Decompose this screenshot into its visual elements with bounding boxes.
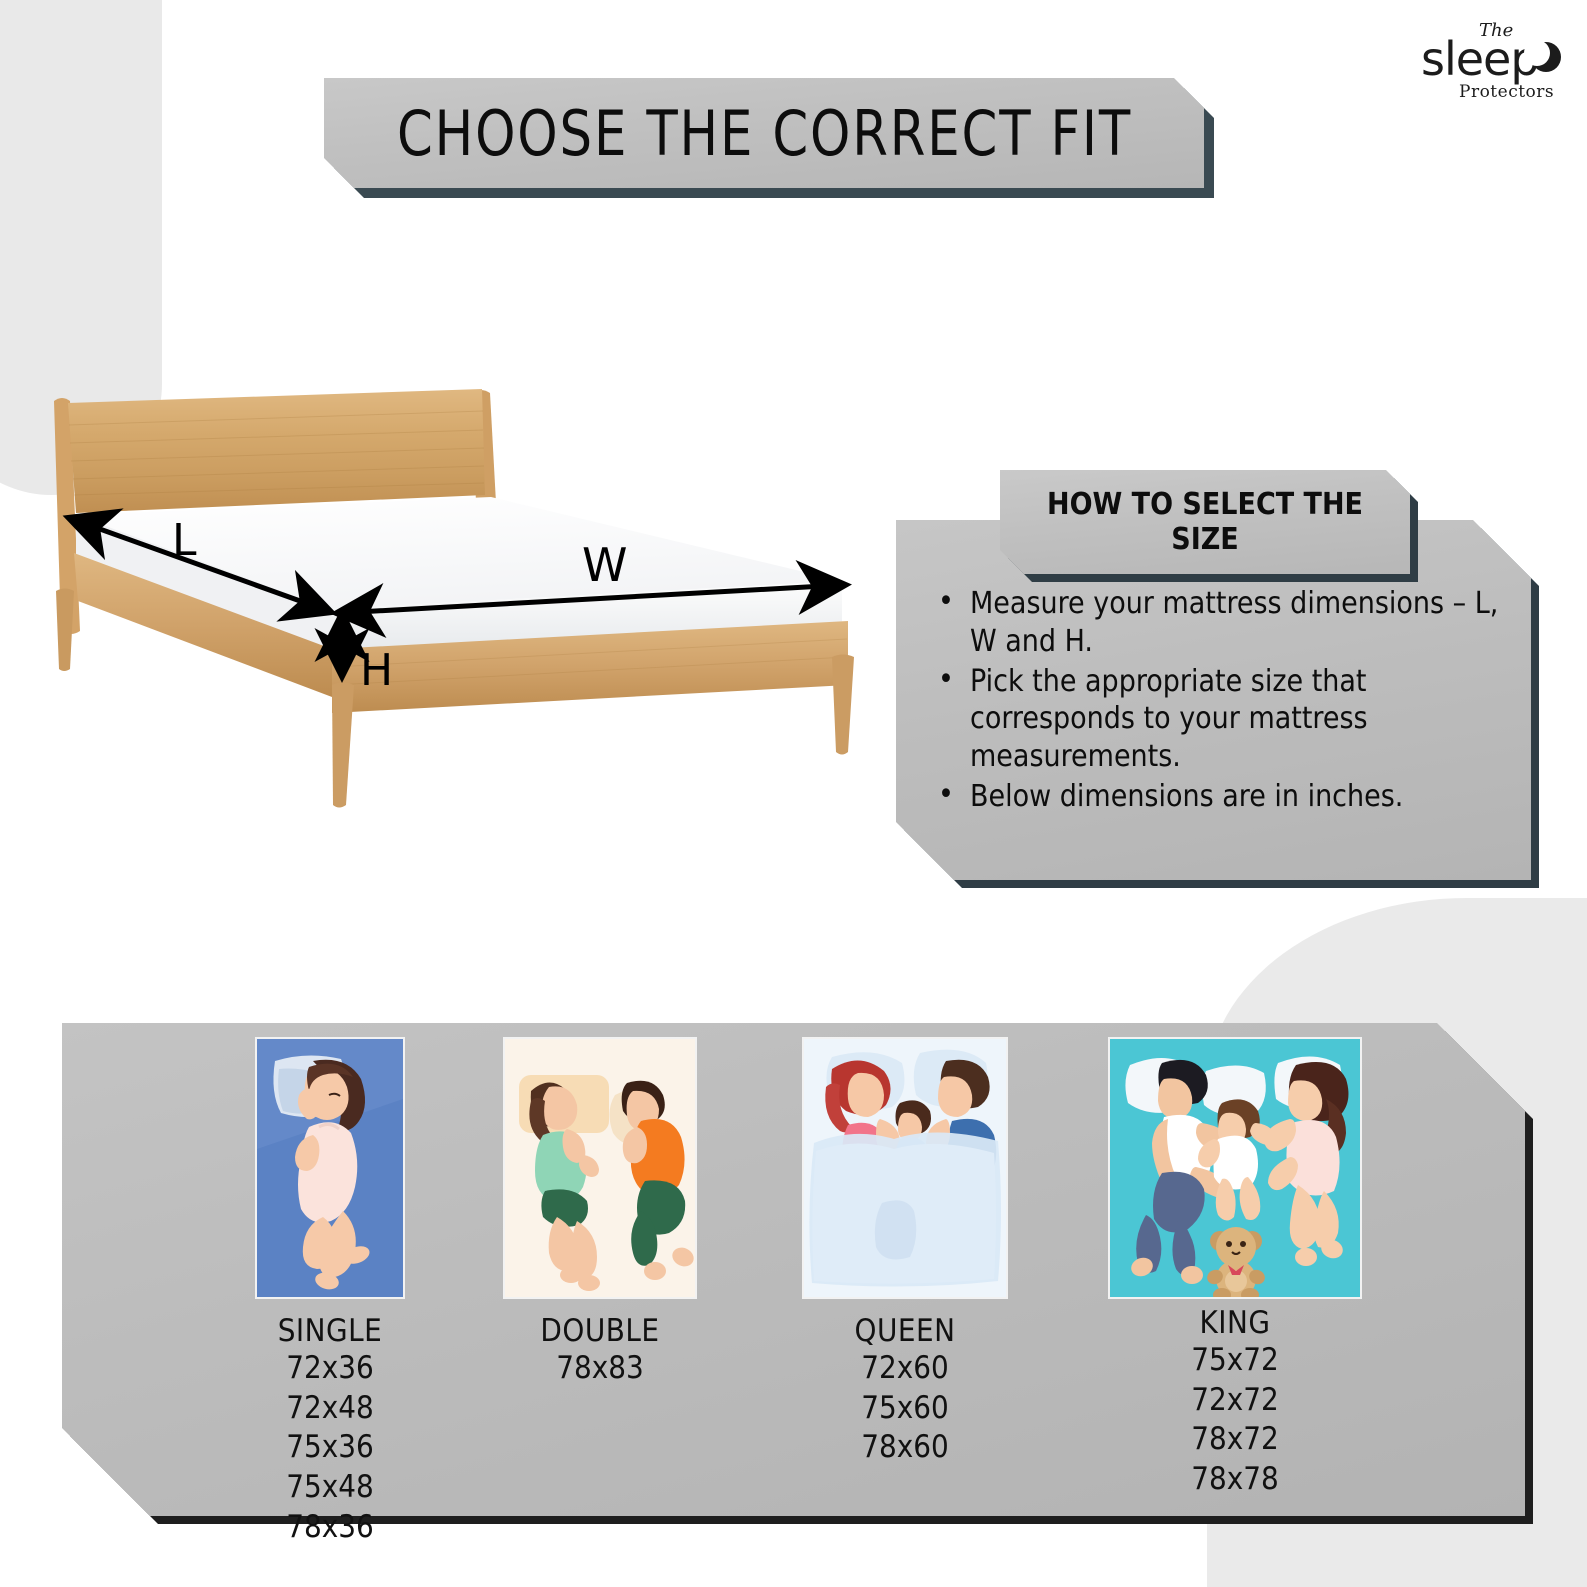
moon-icon	[1531, 42, 1561, 72]
size-dimensions-queen: 72x60 75x60 78x60	[745, 1349, 1065, 1468]
dimension-value: 72x72	[1055, 1381, 1415, 1421]
dimension-value: 72x48	[180, 1389, 480, 1429]
dimension-value: 75x72	[1055, 1341, 1415, 1381]
dimension-value: 75x60	[745, 1389, 1065, 1429]
infographic-page: CHOOSE THE CORRECT FIT The sleep Protect…	[0, 0, 1587, 1587]
title-banner-plate: CHOOSE THE CORRECT FIT	[324, 78, 1204, 188]
bed-diagram: L W H	[42, 385, 902, 815]
dimension-value: 78x83	[440, 1349, 760, 1389]
size-dimensions-single: 72x36 72x48 75x36 75x48 78x36	[180, 1349, 480, 1547]
dimension-value: 75x48	[180, 1468, 480, 1508]
logo-sub-text: Protectors	[1459, 82, 1554, 102]
dimension-value: 78x60	[745, 1428, 1065, 1468]
dimension-value: 75x36	[180, 1428, 480, 1468]
size-label-queen: QUEEN	[745, 1313, 1065, 1349]
title-banner: CHOOSE THE CORRECT FIT	[324, 78, 1204, 188]
dimension-value: 72x36	[180, 1349, 480, 1389]
brand-logo: The sleep Protectors	[1387, 8, 1579, 118]
howto-bullet: Below dimensions are in inches.	[930, 778, 1510, 816]
howto-header-title: HOW TO SELECT THE SIZE	[1000, 487, 1410, 558]
size-option-queen[interactable]: QUEEN 72x60 75x60 78x60	[745, 1037, 1065, 1468]
dimension-value: 78x78	[1055, 1460, 1415, 1500]
dimension-value: 78x72	[1055, 1420, 1415, 1460]
queen-sleeper-image	[802, 1037, 1008, 1299]
single-sleeper-image	[255, 1037, 405, 1299]
size-dimensions-double: 78x83	[440, 1349, 760, 1389]
size-option-double[interactable]: DOUBLE 78x83	[440, 1037, 760, 1389]
howto-header-plate: HOW TO SELECT THE SIZE	[1000, 470, 1410, 574]
howto-bullet: Pick the appropriate size that correspon…	[930, 663, 1510, 776]
size-label-double: DOUBLE	[440, 1313, 760, 1349]
length-label: L	[172, 515, 197, 566]
width-label: W	[582, 538, 627, 592]
size-option-king[interactable]: KING 75x72 72x72 78x72 78x78	[1055, 1037, 1415, 1500]
howto-bullet-list: Measure your mattress dimensions – L, W …	[930, 585, 1510, 818]
size-label-king: KING	[1055, 1305, 1415, 1341]
size-dimensions-king: 75x72 72x72 78x72 78x78	[1055, 1341, 1415, 1500]
double-sleeper-image	[503, 1037, 697, 1299]
howto-bullet: Measure your mattress dimensions – L, W …	[930, 585, 1510, 661]
logo-brand-text: sleep	[1421, 32, 1539, 86]
size-label-single: SINGLE	[180, 1313, 480, 1349]
king-sleeper-image	[1108, 1037, 1362, 1299]
dimension-value: 72x60	[745, 1349, 1065, 1389]
page-title: CHOOSE THE CORRECT FIT	[396, 97, 1131, 170]
height-label: H	[360, 645, 393, 696]
size-option-single[interactable]: SINGLE 72x36 72x48 75x36 75x48 78x36	[180, 1037, 480, 1547]
bed-diagram-svg: L W H	[42, 385, 902, 815]
dimension-value: 78x36	[180, 1508, 480, 1548]
